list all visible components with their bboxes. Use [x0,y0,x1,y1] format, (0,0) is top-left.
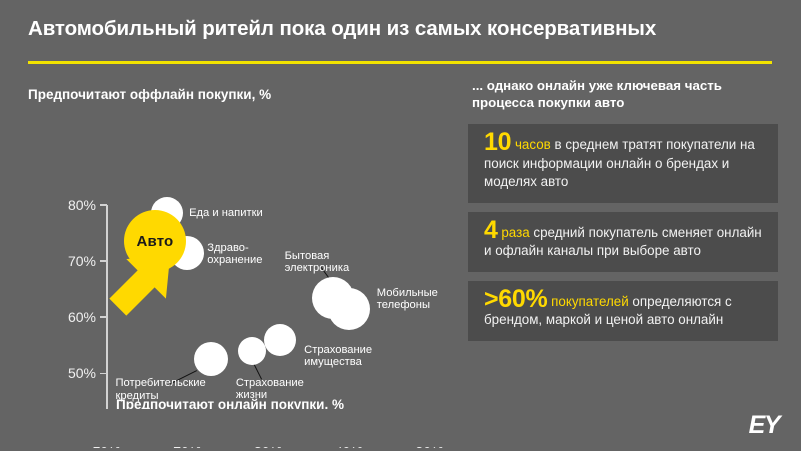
y-axis-tick-label: 50% [46,365,96,381]
stat-card-value: >60% [484,285,547,313]
stat-card-text: 4 раза средний покупатель сменяет онлайн… [484,221,764,261]
stats-panel: ... однако онлайн уже ключевая часть про… [468,78,778,350]
stats-panel-heading: ... однако онлайн уже ключевая часть про… [472,78,778,111]
chart-panel: Предпочитают оффлайн покупки, % 40%50%60… [0,72,460,432]
chart-bubble[interactable] [194,342,228,376]
stat-card: >60% покупателей определяются с брендом,… [468,281,778,341]
slide-root: Автомобильный ритейл пока один из самых … [0,0,801,447]
footer-bar [0,409,801,447]
stat-card: 10 часов в среднем тратят покупатели на … [468,124,778,203]
chart-bubble[interactable]: Авто [124,210,186,272]
chart-bubble[interactable] [264,324,296,356]
header-divider [28,61,772,64]
chart-bubble-label: Страхование имущества [304,344,372,369]
chart-bubble-label: Еда и напитки [189,207,263,219]
bubble-chart-plot-area: 40%50%60%70%80%10%20%30%40%50%АвтоЕда и … [0,72,460,432]
y-axis-tick [100,316,107,318]
y-axis-tick-label: 80% [46,197,96,213]
stat-card-list: 10 часов в среднем тратят покупатели на … [468,124,778,341]
chart-bubble-inline-label: Авто [136,233,173,250]
stat-card-text: >60% покупателей определяются с брендом,… [484,290,764,330]
chart-bubble[interactable] [238,337,266,365]
stat-card-unit: раза [498,225,530,240]
y-axis-tick-label: 70% [46,253,96,269]
stat-card-unit: часов [511,137,551,152]
chart-bubble-label: Мобильные телефоны [377,287,438,312]
y-axis-tick [100,204,107,206]
stat-card-value: 10 [484,128,511,156]
chart-bubble-label: Бытовая электроника [285,250,350,275]
stat-card-text: 10 часов в среднем тратят покупатели на … [484,133,764,192]
stat-card-unit: покупателей [547,294,628,309]
y-axis-tick [100,373,107,375]
stat-card-value: 4 [484,216,498,244]
chart-bubble[interactable] [328,288,370,330]
y-axis-tick-label: 60% [46,309,96,325]
y-axis-tick [100,260,107,262]
page-title: Автомобильный ритейл пока один из самых … [28,17,656,41]
stat-card: 4 раза средний покупатель сменяет онлайн… [468,212,778,272]
ey-logo: EY [749,411,779,440]
